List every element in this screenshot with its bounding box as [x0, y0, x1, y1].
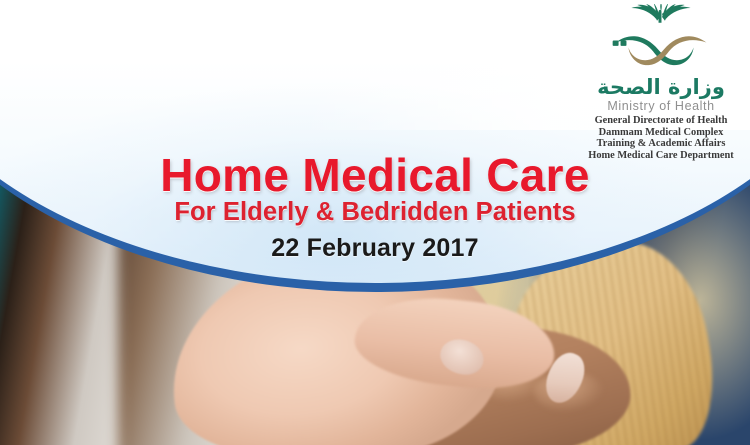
saudi-moh-palm-emblem-icon: [601, 4, 721, 78]
page-title: Home Medical Care: [0, 148, 750, 202]
page-subtitle: For Elderly & Bedridden Patients: [0, 198, 750, 227]
logo-line-1: General Directorate of Health: [576, 115, 746, 127]
ministry-logo: وزارة الصحة Ministry of Health General D…: [576, 4, 746, 162]
logo-english-name: Ministry of Health: [576, 99, 746, 113]
poster: وزارة الصحة Ministry of Health General D…: [0, 0, 750, 445]
event-date: 22 February 2017: [0, 234, 750, 263]
logo-line-2: Dammam Medical Complex: [576, 127, 746, 139]
logo-arabic-name: وزارة الصحة: [576, 76, 746, 98]
